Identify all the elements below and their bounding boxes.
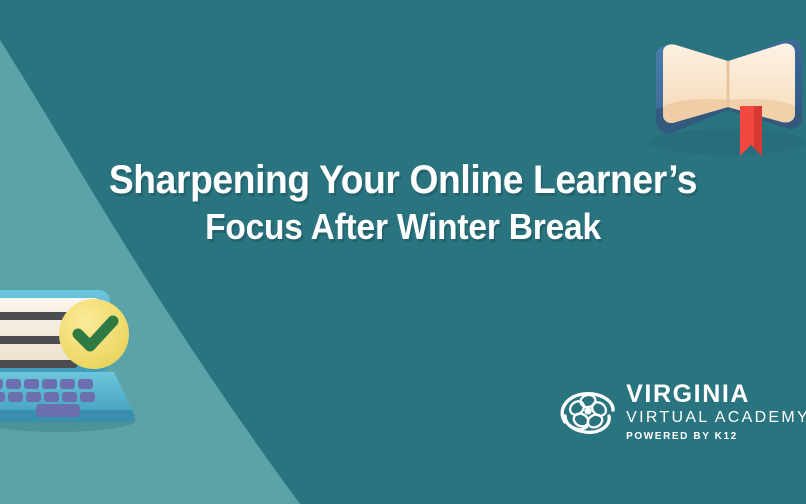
title-line-1: Sharpening Your Online Learner’s [28,158,778,203]
dogwood-flower-swirl-icon [559,386,617,438]
title-line-2: Focus After Winter Break [28,207,778,247]
virginia-virtual-academy-logo: VIRGINIA VIRTUAL ACADEMY POWERED BY K12 [559,382,806,442]
logo-wordmark: VIRGINIA VIRTUAL ACADEMY POWERED BY K12 [626,382,806,442]
banner-graphic: Sharpening Your Online Learner’s Focus A… [0,0,806,504]
open-book-illustration [636,14,806,160]
logo-tagline-text: POWERED BY K12 [626,432,806,442]
banner-title: Sharpening Your Online Learner’s Focus A… [0,158,806,247]
logo-flower-center [585,407,592,414]
logo-primary-text: VIRGINIA [626,382,806,407]
laptop-checklist-illustration [0,276,150,432]
book-ribbon-shade [754,106,762,156]
laptop-trackpad [36,404,80,417]
checklist-bar-3 [0,360,78,368]
logo-secondary-text: VIRTUAL ACADEMY [626,410,806,426]
book-shadow [650,129,806,155]
